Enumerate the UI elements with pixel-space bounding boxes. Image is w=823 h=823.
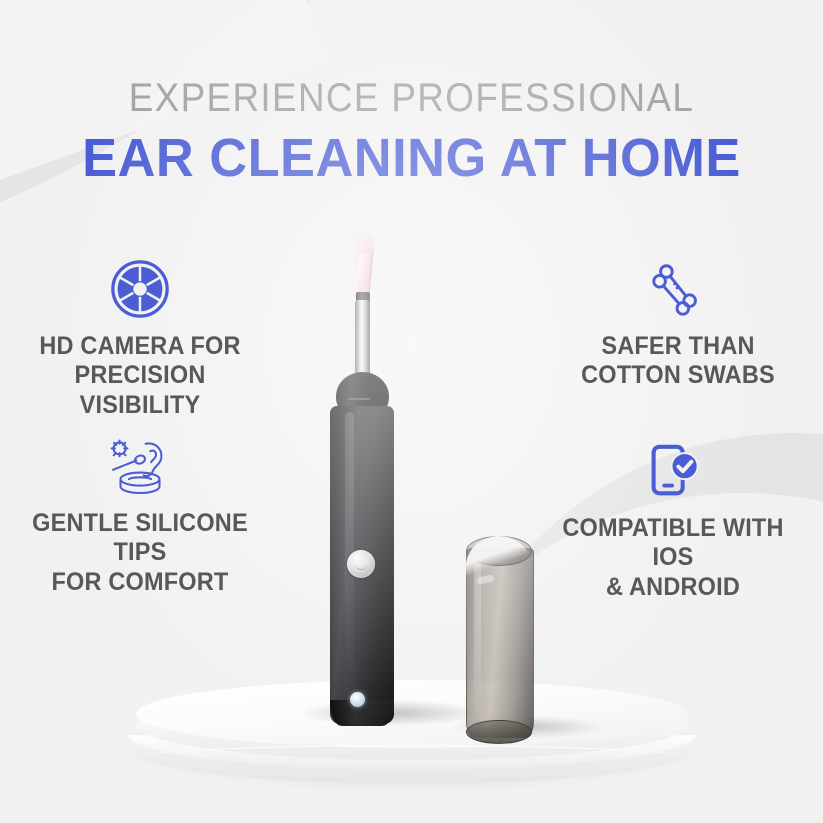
page-title: EAR CLEANING AT HOME	[12, 131, 810, 185]
feature-label-line1: HD CAMERA FOR	[23, 332, 258, 361]
feature-label: GENTLE SILICONE TIPS FOR COMFORT	[23, 509, 258, 597]
kicker-text: EXPERIENCE PROFESSIONAL	[33, 78, 790, 118]
feature-compatibility: COMPATIBLE WITH IOS & ANDROID	[548, 430, 798, 602]
feature-label-line2: PRECISION VISIBILITY	[23, 361, 258, 420]
camera-aperture-icon	[15, 248, 265, 320]
feature-label: SAFER THAN COTTON SWABS	[561, 332, 796, 391]
headline-block: EXPERIENCE PROFESSIONAL EAR CLEANING AT …	[0, 78, 823, 185]
feature-hd-camera: HD CAMERA FOR PRECISION VISIBILITY	[15, 248, 265, 420]
feature-label-line1: COMPATIBLE WITH IOS	[556, 514, 791, 573]
feature-label: HD CAMERA FOR PRECISION VISIBILITY	[23, 332, 258, 420]
feature-label-line2: & ANDROID	[556, 573, 791, 602]
product-marketing-banner: EXPERIENCE PROFESSIONAL EAR CLEANING AT …	[0, 0, 823, 823]
feature-label-line2: COTTON SWABS	[561, 361, 796, 390]
ear-silicone-tip-icon	[15, 425, 265, 497]
feature-label: COMPATIBLE WITH IOS & ANDROID	[556, 514, 791, 602]
feature-safer-than-swabs: SAFER THAN COTTON SWABS	[553, 248, 803, 391]
feature-silicone-tips: GENTLE SILICONE TIPS FOR COMFORT	[15, 425, 265, 597]
feature-label-line1: GENTLE SILICONE TIPS	[23, 509, 258, 568]
phone-check-icon	[548, 430, 798, 502]
cotton-swabs-icon	[553, 248, 803, 320]
feature-label-line1: SAFER THAN	[561, 332, 796, 361]
feature-label-line2: FOR COMFORT	[23, 568, 258, 597]
